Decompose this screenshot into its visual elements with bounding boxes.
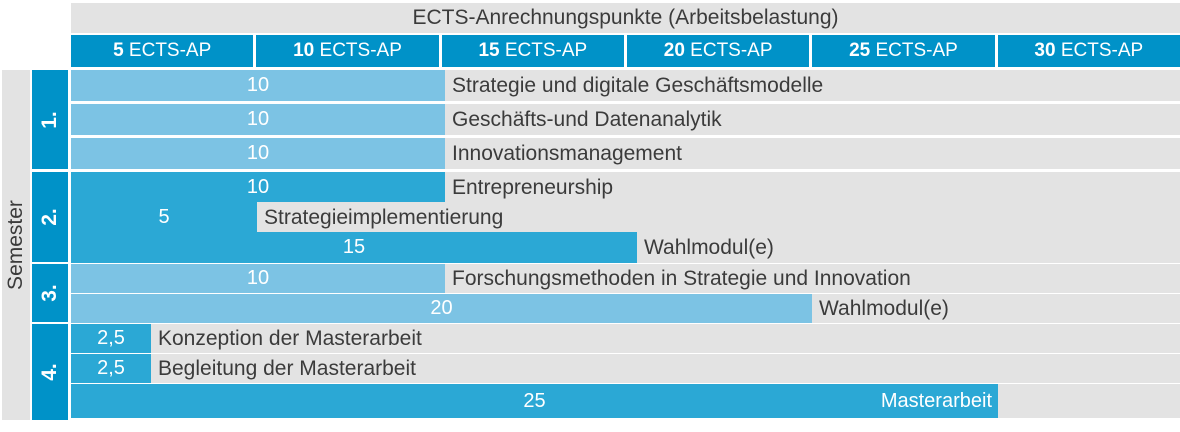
ects-value: 2,5 xyxy=(97,357,125,380)
ects-bar: 20 xyxy=(71,294,812,323)
semester-tab-4: 4. xyxy=(32,324,68,420)
module-row[interactable]: 20 Wahlmodul(e) xyxy=(71,294,1180,323)
module-name: Geschäfts-und Datenanalytik xyxy=(445,104,722,135)
module-row[interactable]: 10 Forschungsmethoden in Strategie und I… xyxy=(71,264,1180,293)
scale-tick-5-value: 5 xyxy=(113,40,124,61)
module-row[interactable]: 10 Entrepreneurship xyxy=(71,172,1180,203)
ects-value: 2,5 xyxy=(97,327,125,350)
semester-tab-3: 3. xyxy=(32,264,68,322)
module-row[interactable]: 10 Innovationsmanagement xyxy=(71,138,1180,169)
module-row[interactable]: 2,5 Begleitung der Masterarbeit xyxy=(71,354,1180,383)
ects-value: 10 xyxy=(247,74,269,97)
ects-value: 15 xyxy=(343,236,365,259)
ects-value: 10 xyxy=(247,142,269,165)
module-name: Konzeption der Masterarbeit xyxy=(151,324,422,353)
semester-tab-2-label: 2. xyxy=(38,208,62,226)
ects-bar: 5 xyxy=(71,202,257,233)
scale-tick-15-unit: ECTS-AP xyxy=(500,40,588,61)
scale-tick-30-unit: ECTS-AP xyxy=(1056,40,1144,61)
module-name: Begleitung der Masterarbeit xyxy=(151,354,416,383)
scale-tick-15-value: 15 xyxy=(478,40,499,61)
module-name: Wahlmodul(e) xyxy=(812,294,949,323)
ects-bar: 25 Masterarbeit xyxy=(71,384,998,418)
scale-tick-30: 30 ECTS-AP xyxy=(998,35,1180,67)
scale-tick-10: 10 ECTS-AP xyxy=(256,35,438,67)
module-name: Forschungsmethoden in Strategie und Inno… xyxy=(445,264,911,293)
module-name: Strategieimplementierung xyxy=(257,202,503,233)
ects-bar: 2,5 xyxy=(71,354,151,383)
module-name: Strategie und digitale Geschäftsmodelle xyxy=(445,70,823,101)
scale-tick-10-value: 10 xyxy=(293,40,314,61)
module-row[interactable]: 15 Wahlmodul(e) xyxy=(71,232,1180,263)
ects-value: 10 xyxy=(247,267,269,290)
ects-bar: 10 xyxy=(71,104,445,135)
ects-bar: 10 xyxy=(71,172,445,203)
scale-tick-5: 5 ECTS-AP xyxy=(71,35,253,67)
ects-bar: 10 xyxy=(71,264,445,293)
semester-axis-label: Semester xyxy=(2,70,30,420)
ects-value: 10 xyxy=(247,108,269,131)
scale-tick-15: 15 ECTS-AP xyxy=(442,35,624,67)
scale-tick-5-unit: ECTS-AP xyxy=(124,40,212,61)
ects-value: 10 xyxy=(247,176,269,199)
semester-tab-2: 2. xyxy=(32,172,68,262)
module-name: Innovationsmanagement xyxy=(445,138,682,169)
semester-tab-1: 1. xyxy=(32,70,68,169)
ects-bar: 15 xyxy=(71,232,637,263)
ects-scale-header: 5 ECTS-AP 10 ECTS-AP 15 ECTS-AP 20 ECTS-… xyxy=(71,35,1180,67)
module-name: Wahlmodul(e) xyxy=(637,232,774,263)
ects-value: 20 xyxy=(430,297,452,320)
semester-axis-text: Semester xyxy=(4,200,28,290)
ects-bar: 10 xyxy=(71,138,445,169)
scale-tick-20: 20 ECTS-AP xyxy=(627,35,809,67)
scale-tick-25-unit: ECTS-AP xyxy=(870,40,958,61)
module-name: Masterarbeit xyxy=(881,390,992,413)
module-row[interactable]: 10 Strategie und digitale Geschäftsmodel… xyxy=(71,70,1180,101)
ects-value: 25 xyxy=(71,390,998,413)
ects-bar: 10 xyxy=(71,70,445,101)
scale-tick-10-unit: ECTS-AP xyxy=(314,40,402,61)
scale-tick-25: 25 ECTS-AP xyxy=(812,35,994,67)
module-row[interactable]: 2,5 Konzeption der Masterarbeit xyxy=(71,324,1180,353)
chart-title: ECTS-Anrechnungspunkte (Arbeitsbelastung… xyxy=(71,3,1180,33)
module-row[interactable]: 25 Masterarbeit xyxy=(71,384,1180,418)
ects-value: 5 xyxy=(158,206,169,229)
module-name: Entrepreneurship xyxy=(445,172,613,203)
module-row[interactable]: 10 Geschäfts-und Datenanalytik xyxy=(71,104,1180,135)
scale-tick-20-value: 20 xyxy=(664,40,685,61)
scale-tick-20-unit: ECTS-AP xyxy=(685,40,773,61)
scale-tick-30-value: 30 xyxy=(1034,40,1055,61)
semester-tab-4-label: 4. xyxy=(38,363,62,381)
scale-tick-25-value: 25 xyxy=(849,40,870,61)
semester-tab-1-label: 1. xyxy=(38,111,62,129)
semester-tab-3-label: 3. xyxy=(38,284,62,302)
ects-bar: 2,5 xyxy=(71,324,151,353)
curriculum-chart: ECTS-Anrechnungspunkte (Arbeitsbelastung… xyxy=(0,0,1180,432)
module-row[interactable]: 5 Strategieimplementierung xyxy=(71,202,1180,233)
